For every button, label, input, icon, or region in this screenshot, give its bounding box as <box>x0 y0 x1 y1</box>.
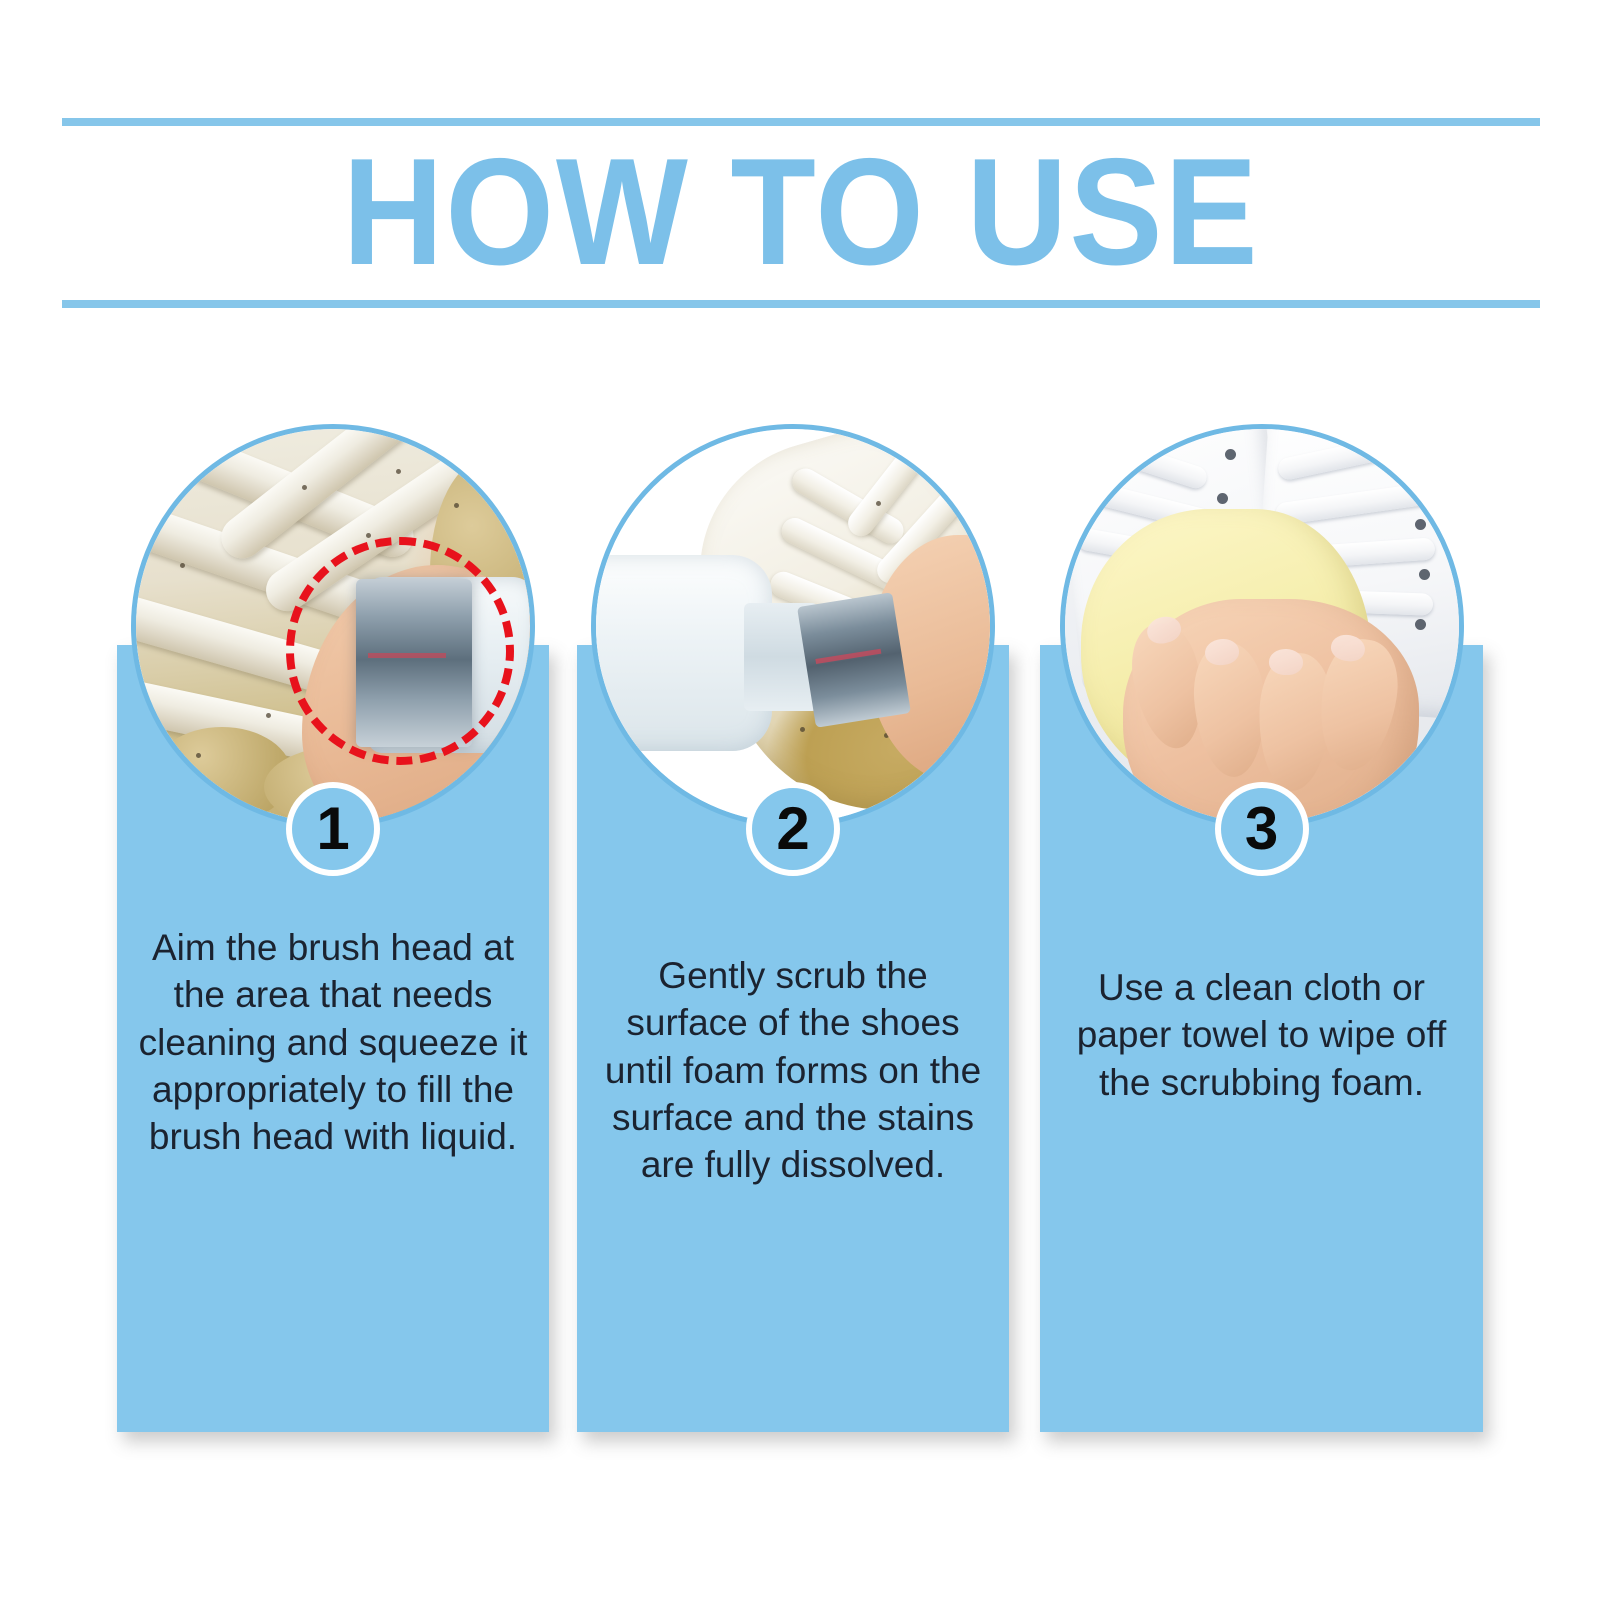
step-card-3: 3 Use a clean cloth or paper towel to wi… <box>1040 424 1483 1432</box>
step-number-2: 2 <box>776 799 809 859</box>
wiping-cloth-illustration <box>1065 429 1459 823</box>
scrubbing-shoe-illustration <box>596 429 990 823</box>
step-card-2: 2 Gently scrub the surface of the shoes … <box>577 424 1009 1432</box>
step-photo-3-image <box>1065 429 1459 823</box>
step-number-1: 1 <box>316 799 349 859</box>
highlight-circle-annotation <box>286 537 514 765</box>
step-caption-1: Aim the brush head at the area that need… <box>135 924 531 1161</box>
step-badge-3: 3 <box>1215 782 1309 876</box>
step-photo-2 <box>591 424 995 828</box>
header-rule-bottom <box>62 300 1540 308</box>
step-photo-1 <box>131 424 535 828</box>
step-caption-2: Gently scrub the surface of the shoes un… <box>595 952 991 1189</box>
step-photo-2-image <box>596 429 990 823</box>
step-caption-3: Use a clean cloth or paper towel to wipe… <box>1058 964 1465 1106</box>
dirty-sneaker-illustration <box>136 429 530 823</box>
step-number-3: 3 <box>1245 799 1278 859</box>
step-badge-1: 1 <box>286 782 380 876</box>
header-rule-top <box>62 118 1540 126</box>
page-header: HOW TO USE <box>62 118 1540 308</box>
step-card-1: 1 Aim the brush head at the area that ne… <box>117 424 549 1432</box>
page-title: HOW TO USE <box>121 128 1481 300</box>
step-photo-1-image <box>136 429 530 823</box>
step-photo-3 <box>1060 424 1464 828</box>
step-badge-2: 2 <box>746 782 840 876</box>
steps-row: 1 Aim the brush head at the area that ne… <box>117 424 1483 1474</box>
